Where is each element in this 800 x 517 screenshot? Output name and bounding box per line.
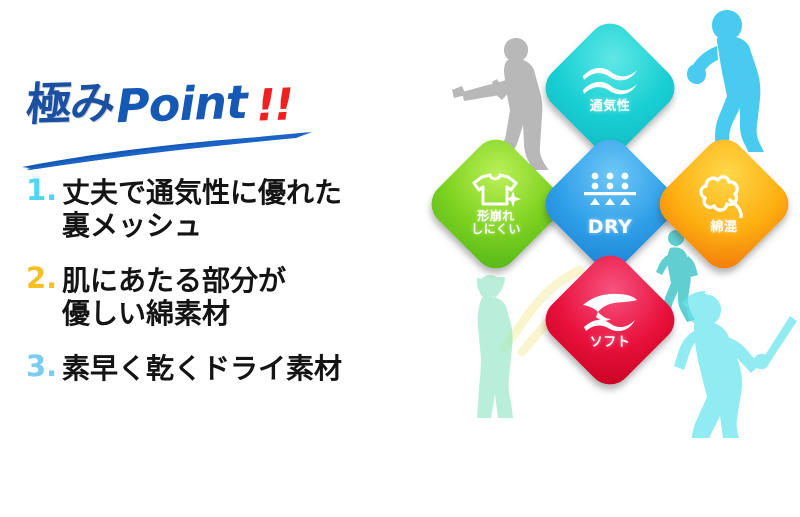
list-item-number: 2. [16, 264, 62, 294]
list-item-line2: 優しい綿素材 [62, 297, 286, 330]
moisture-up-arrows-icon [582, 171, 638, 217]
air-waves-icon [579, 63, 641, 97]
list-item-text: 肌にあたる部分が 優しい綿素材 [62, 264, 286, 330]
list-item-number: 3. [16, 352, 62, 382]
list-item: 2. 肌にあたる部分が 優しい綿素材 [16, 264, 428, 330]
badge-label-line2: しにくい [471, 223, 521, 236]
feature-badge-cluster: 通気性 形崩れ しにくい [430, 0, 800, 420]
list-item-number: 1. [16, 176, 62, 206]
hand-stroking-fabric-icon [580, 291, 640, 333]
list-item-line2: 裏メッシュ [62, 209, 342, 242]
list-item-text: 丈夫で通気性に優れた 裏メッシュ [62, 176, 342, 242]
badge-label: DRY [588, 218, 633, 238]
badge-label: 綿混 [710, 221, 737, 235]
headline-block: 極み Point !! [24, 68, 354, 178]
tshirt-sparkle-icon [470, 173, 522, 207]
list-item-text: 素早く乾くドライ素材 [62, 352, 342, 385]
badge-label-line1: 形崩れ [477, 210, 515, 223]
promo-graphic: 極み Point !! 1. 丈夫で通気性に優れた 裏メッシュ 2. 肌にあたる… [0, 0, 800, 517]
list-item: 1. 丈夫で通気性に優れた 裏メッシュ [16, 176, 428, 242]
list-item-line1: 素早く乾くドライ素材 [62, 352, 342, 385]
volleyball-player-silhouette [452, 268, 562, 418]
baseball-batter-silhouette [658, 278, 800, 438]
headline-kiwami: 極み [24, 66, 117, 133]
badge-soft[interactable]: ソフト [536, 246, 683, 393]
rugby-player-silhouette [665, 2, 785, 152]
list-item: 3. 素早く乾くドライ素材 [16, 352, 428, 385]
badge-cotton-blend[interactable]: 綿混 [650, 130, 797, 277]
list-item-line1: 丈夫で通気性に優れた [62, 176, 342, 209]
feature-list: 1. 丈夫で通気性に優れた 裏メッシュ 2. 肌にあたる部分が 優しい綿素材 3… [16, 176, 428, 407]
headline-text: 極み Point !! [24, 68, 292, 133]
headline-point: Point [115, 75, 248, 134]
badge-label: 通気性 [590, 100, 631, 114]
cotton-boll-icon [697, 174, 751, 218]
list-item-line1: 肌にあたる部分が [62, 264, 286, 297]
headline-exclamation: !! [255, 79, 293, 131]
badge-label: ソフト [590, 336, 631, 350]
